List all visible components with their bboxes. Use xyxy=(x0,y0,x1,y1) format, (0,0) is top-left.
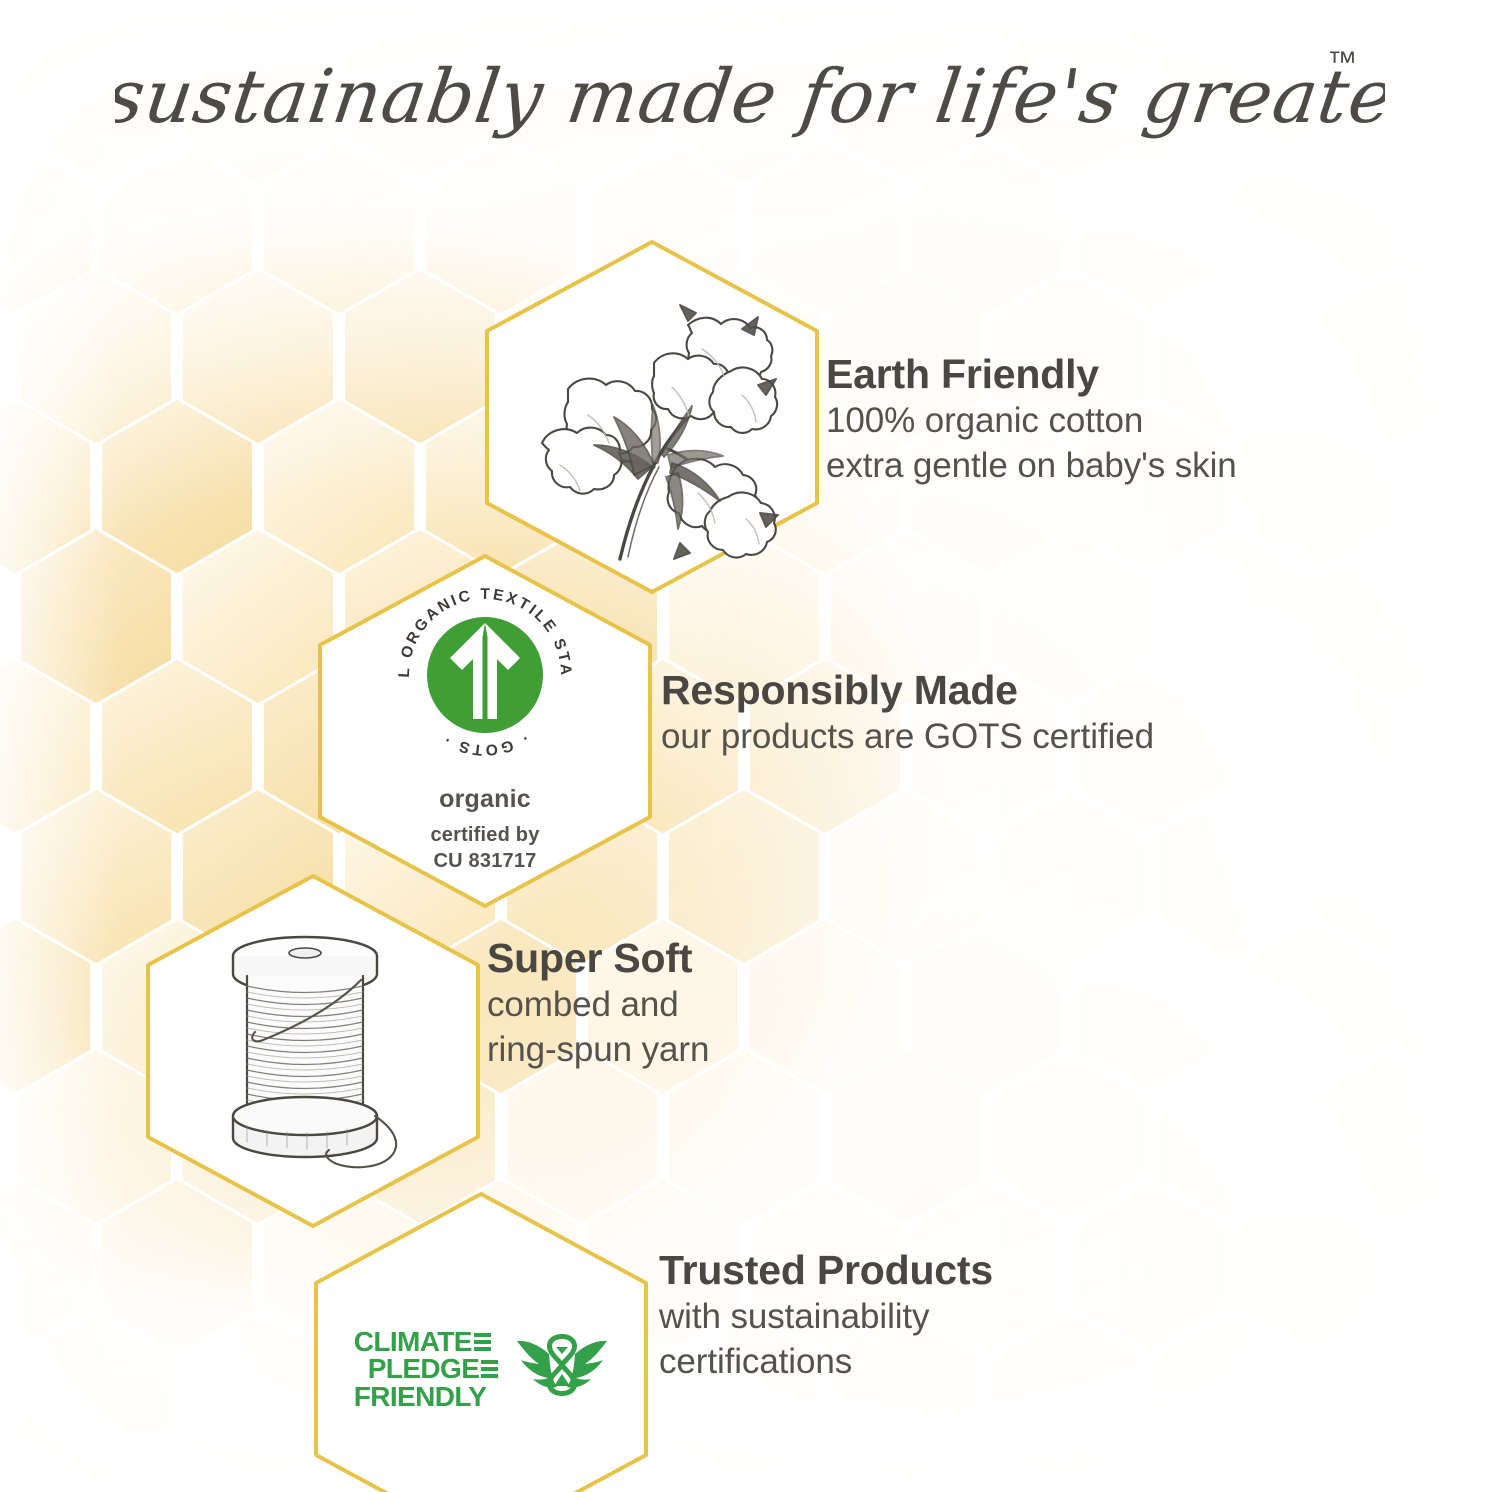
cpf-bars-icon xyxy=(481,1360,498,1378)
headline-script-text: sustainably made for life's greatest joy… xyxy=(115,36,1385,156)
winged-hourglass-icon xyxy=(516,1328,608,1410)
cotton-branch-icon xyxy=(502,267,802,567)
cotton-icon-slot xyxy=(483,238,821,596)
thread-spool-icon xyxy=(187,920,439,1182)
feature-hex-card-super-soft[interactable] xyxy=(144,872,482,1230)
gots-certifier-code: CU 831717 xyxy=(434,850,537,872)
feature-hex-card-earth-friendly[interactable] xyxy=(483,238,821,596)
feature-desc-line: extra gentle on baby's skin xyxy=(826,443,1237,489)
cpf-line-1: CLIMATE xyxy=(354,1328,491,1355)
gots-certified-by-line: certified by xyxy=(430,824,539,846)
trademark-symbol: ™ xyxy=(1327,46,1357,79)
feature-title: Trusted Products xyxy=(659,1248,993,1294)
feature-text-super-soft: Super Soft combed and ring-spun yarn xyxy=(487,936,709,1073)
feature-desc-line: combed and xyxy=(487,982,709,1028)
headline: sustainably made for life's greatest joy… xyxy=(0,36,1500,161)
feature-text-trusted-products: Trusted Products with sustainability cer… xyxy=(659,1248,993,1385)
feature-title: Responsibly Made xyxy=(661,668,1154,714)
feature-title: Super Soft xyxy=(487,936,709,982)
cpf-climate-label: CLIMATE xyxy=(354,1328,472,1355)
cpf-pledge-label: PLEDGE xyxy=(368,1355,480,1382)
gots-certification-icon: GLOBAL ORGANIC TEXTILE STANDARD · GOTS · xyxy=(389,579,581,771)
gots-ring-text-bottom: · GOTS · xyxy=(439,730,531,759)
gots-caption-certified-by: certified by CU 831717 xyxy=(430,823,539,874)
feature-text-earth-friendly: Earth Friendly 100% organic cotton extra… xyxy=(826,352,1237,489)
feature-text-responsibly-made: Responsibly Made our products are GOTS c… xyxy=(661,668,1154,759)
spool-icon-slot xyxy=(144,872,482,1230)
cpf-friendly-label: FRIENDLY xyxy=(354,1383,487,1410)
feature-desc-line: our products are GOTS certified xyxy=(661,714,1154,760)
climate-pledge-icon-slot: CLIMATE PLEDGE FRIENDLY xyxy=(312,1190,650,1492)
infographic-stage: sustainably made for life's greatest joy… xyxy=(0,0,1500,1492)
cpf-line-2: PLEDGE xyxy=(354,1355,499,1382)
feature-hex-card-trusted-products[interactable]: CLIMATE PLEDGE FRIENDLY xyxy=(312,1190,650,1492)
feature-hex-card-responsibly-made[interactable]: GLOBAL ORGANIC TEXTILE STANDARD · GOTS ·… xyxy=(316,552,654,910)
gots-badge: GLOBAL ORGANIC TEXTILE STANDARD · GOTS ·… xyxy=(389,579,581,874)
feature-desc-line: 100% organic cotton xyxy=(826,398,1237,444)
climate-pledge-wordmark: CLIMATE PLEDGE FRIENDLY xyxy=(354,1328,499,1410)
cpf-line-3: FRIENDLY xyxy=(354,1383,487,1410)
gots-icon-slot: GLOBAL ORGANIC TEXTILE STANDARD · GOTS ·… xyxy=(316,552,654,910)
feature-desc-line: ring-spun yarn xyxy=(487,1027,709,1073)
headline-label: sustainably made for life's greatest joy xyxy=(115,53,1385,140)
gots-caption-organic: organic xyxy=(439,785,531,814)
climate-pledge-friendly-badge: CLIMATE PLEDGE FRIENDLY xyxy=(354,1328,609,1410)
feature-title: Earth Friendly xyxy=(826,352,1237,398)
cpf-bars-icon xyxy=(474,1333,491,1351)
feature-desc-line: with sustainability xyxy=(659,1294,993,1340)
feature-desc-line: certifications xyxy=(659,1339,993,1385)
